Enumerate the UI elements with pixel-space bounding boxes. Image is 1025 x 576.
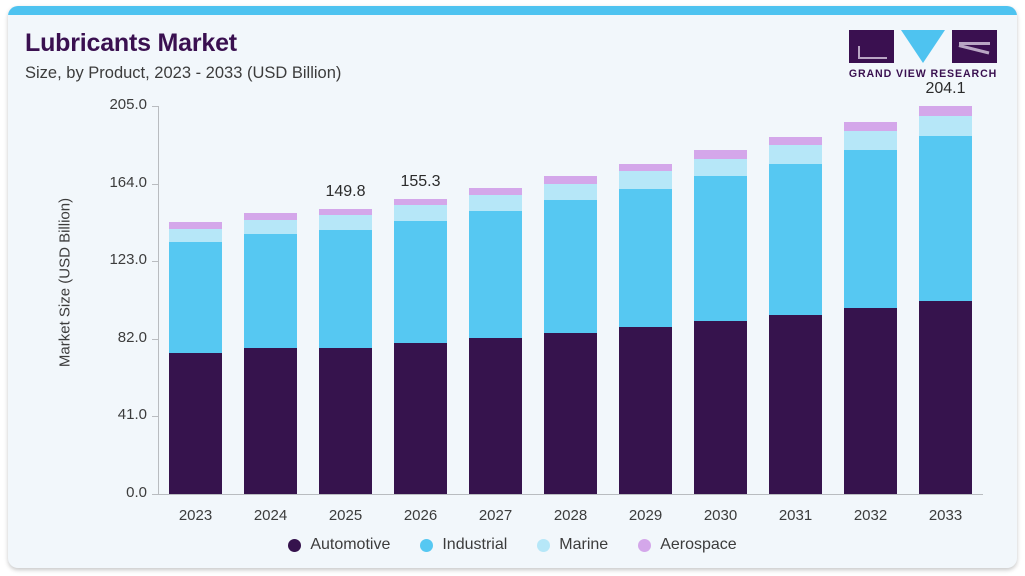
y-tick-mark <box>152 339 158 340</box>
bar-segment-marine-2025[interactable] <box>319 215 372 230</box>
bar-segment-marine-2033[interactable] <box>919 116 972 136</box>
bar-segment-marine-2027[interactable] <box>469 195 522 211</box>
legend-swatch-icon <box>420 539 433 552</box>
x-tick-label-2032: 2032 <box>831 507 911 524</box>
bar-segment-automotive-2023[interactable] <box>169 353 222 494</box>
y-tick-label: 164.0 <box>85 174 147 191</box>
legend-swatch-icon <box>537 539 550 552</box>
bar-segment-aerospace-2030[interactable] <box>694 150 747 158</box>
legend-item-automotive[interactable]: Automotive <box>288 536 390 554</box>
y-tick-label: 82.0 <box>85 329 147 346</box>
legend-label: Industrial <box>442 536 507 554</box>
legend-swatch-icon <box>288 539 301 552</box>
x-tick-label-2030: 2030 <box>681 507 761 524</box>
bar-segment-industrial-2026[interactable] <box>394 221 447 343</box>
bar-segment-marine-2026[interactable] <box>394 205 447 220</box>
bar-segment-aerospace-2027[interactable] <box>469 188 522 195</box>
x-tick-label-2031: 2031 <box>756 507 836 524</box>
bar-segment-automotive-2027[interactable] <box>469 338 522 494</box>
bar-segment-industrial-2025[interactable] <box>319 230 372 348</box>
x-axis-line <box>158 494 983 495</box>
bar-segment-industrial-2031[interactable] <box>769 164 822 315</box>
bar-segment-industrial-2032[interactable] <box>844 150 897 308</box>
y-tick-label: 123.0 <box>85 251 147 268</box>
bar-segment-automotive-2028[interactable] <box>544 333 597 494</box>
x-tick-label-2025: 2025 <box>306 507 386 524</box>
bar-segment-aerospace-2028[interactable] <box>544 176 597 183</box>
legend-item-aerospace[interactable]: Aerospace <box>638 536 737 554</box>
bar-segment-marine-2029[interactable] <box>619 171 672 188</box>
bar-segment-aerospace-2029[interactable] <box>619 164 672 172</box>
x-tick-label-2024: 2024 <box>231 507 311 524</box>
bar-segment-automotive-2024[interactable] <box>244 348 297 494</box>
bar-segment-aerospace-2024[interactable] <box>244 213 297 219</box>
bar-segment-aerospace-2032[interactable] <box>844 122 897 131</box>
bar-segment-industrial-2023[interactable] <box>169 242 222 353</box>
y-tick-mark <box>152 106 158 107</box>
legend-item-marine[interactable]: Marine <box>537 536 608 554</box>
bar-segment-automotive-2030[interactable] <box>694 321 747 494</box>
chart-card: Lubricants Market Size, by Product, 2023… <box>8 6 1017 568</box>
y-tick-label: 41.0 <box>85 406 147 423</box>
bar-segment-industrial-2024[interactable] <box>244 234 297 348</box>
bar-segment-marine-2023[interactable] <box>169 229 222 243</box>
y-tick-label: 205.0 <box>85 96 147 113</box>
x-tick-label-2028: 2028 <box>531 507 611 524</box>
y-tick-mark <box>152 494 158 495</box>
bar-segment-marine-2031[interactable] <box>769 145 822 164</box>
legend-label: Marine <box>559 536 608 554</box>
legend-swatch-icon <box>638 539 651 552</box>
bar-total-label-2033: 204.1 <box>896 80 996 98</box>
bar-segment-marine-2024[interactable] <box>244 220 297 234</box>
bar-total-label-2026: 155.3 <box>371 173 471 191</box>
legend-item-industrial[interactable]: Industrial <box>420 536 507 554</box>
y-tick-mark <box>152 184 158 185</box>
bar-segment-marine-2032[interactable] <box>844 131 897 150</box>
y-axis-line <box>158 106 159 494</box>
y-tick-label: 0.0 <box>85 484 147 501</box>
y-tick-mark <box>152 416 158 417</box>
bar-segment-aerospace-2025[interactable] <box>319 209 372 216</box>
bar-segment-aerospace-2023[interactable] <box>169 222 222 228</box>
bar-segment-industrial-2030[interactable] <box>694 176 747 320</box>
x-tick-label-2026: 2026 <box>381 507 461 524</box>
bar-segment-automotive-2026[interactable] <box>394 343 447 494</box>
chart-legend: AutomotiveIndustrialMarineAerospace <box>8 536 1017 554</box>
x-tick-label-2029: 2029 <box>606 507 686 524</box>
legend-label: Automotive <box>310 536 390 554</box>
bar-segment-industrial-2033[interactable] <box>919 136 972 301</box>
bar-segment-aerospace-2026[interactable] <box>394 199 447 206</box>
bar-segment-marine-2030[interactable] <box>694 159 747 177</box>
bar-segment-marine-2028[interactable] <box>544 184 597 200</box>
bar-segment-automotive-2025[interactable] <box>319 348 372 494</box>
x-tick-label-2033: 2033 <box>906 507 986 524</box>
bar-segment-industrial-2027[interactable] <box>469 211 522 338</box>
y-axis-title: Market Size (USD Billion) <box>57 163 74 403</box>
bar-segment-aerospace-2033[interactable] <box>919 106 972 115</box>
bar-segment-industrial-2029[interactable] <box>619 189 672 327</box>
bar-segment-automotive-2032[interactable] <box>844 308 897 494</box>
chart-plot-area: Market Size (USD Billion) 0.041.082.0123… <box>8 6 1017 568</box>
bar-segment-automotive-2029[interactable] <box>619 327 672 494</box>
bar-segment-automotive-2033[interactable] <box>919 301 972 494</box>
bar-segment-industrial-2028[interactable] <box>544 200 597 333</box>
x-tick-label-2027: 2027 <box>456 507 536 524</box>
x-tick-label-2023: 2023 <box>156 507 236 524</box>
legend-label: Aerospace <box>660 536 737 554</box>
bar-segment-aerospace-2031[interactable] <box>769 137 822 146</box>
y-tick-mark <box>152 261 158 262</box>
bar-segment-automotive-2031[interactable] <box>769 315 822 494</box>
